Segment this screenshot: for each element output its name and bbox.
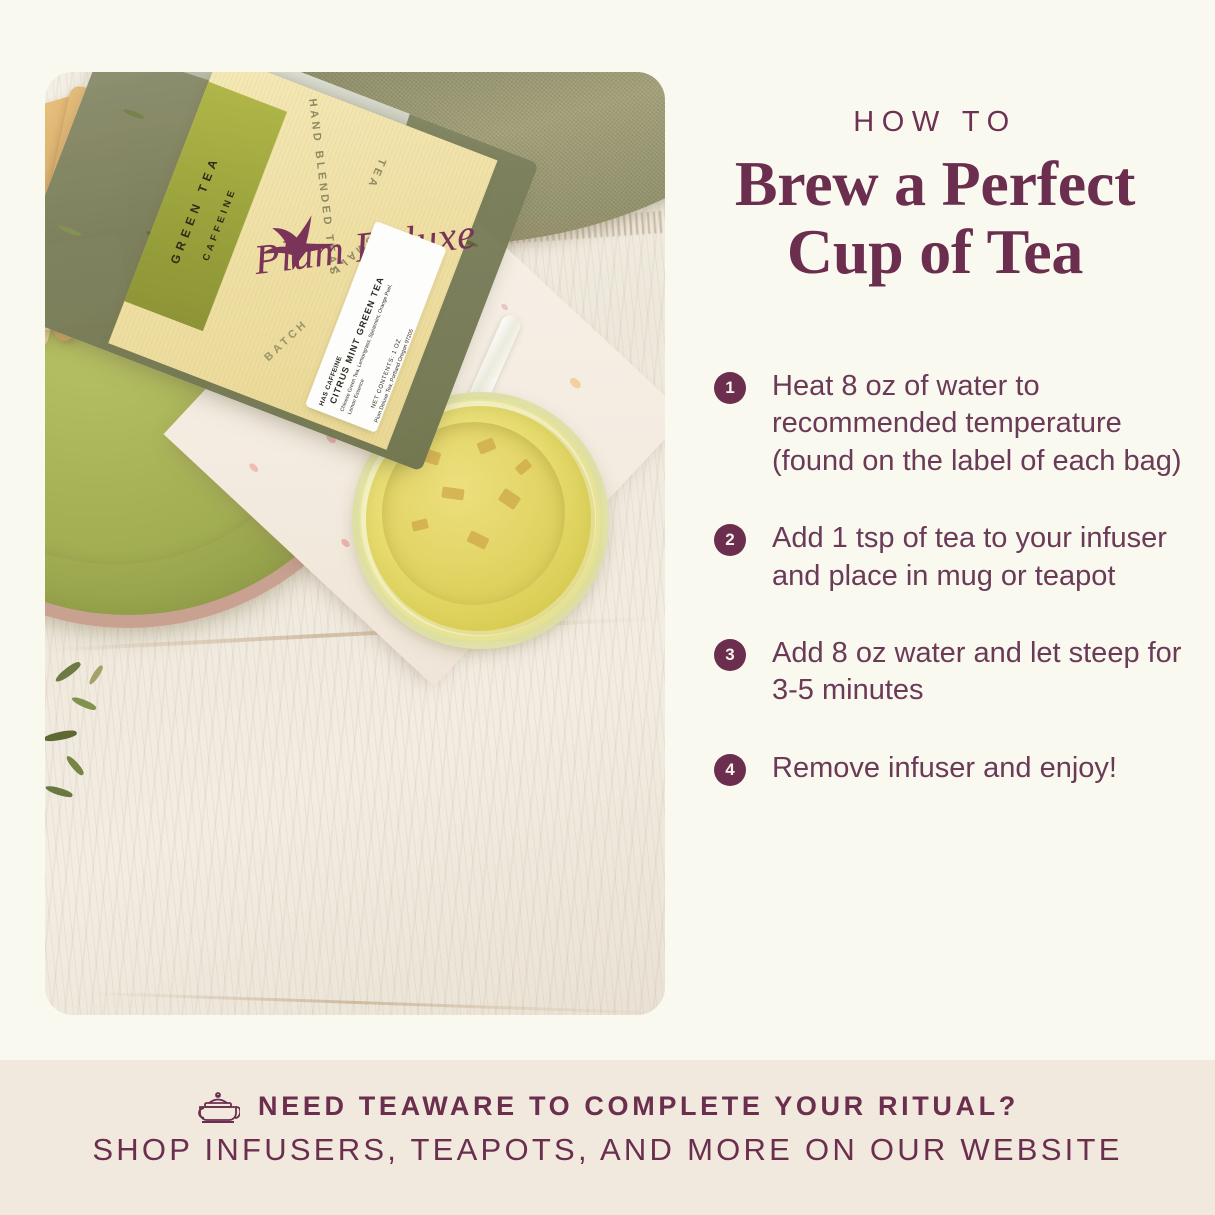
- kicker-text: HOW TO: [700, 106, 1170, 139]
- call-to-action-banner: NEED TEAWARE TO COMPLETE YOUR RITUAL? SH…: [0, 1060, 1215, 1215]
- banner-subline: SHOP INFUSERS, TEAPOTS, AND MORE ON OUR …: [0, 1132, 1215, 1168]
- page-title: Brew a Perfect Cup of Tea: [700, 150, 1170, 287]
- title-line-1: Brew a Perfect: [700, 150, 1170, 218]
- package-arc-batch: BATCH: [262, 317, 311, 363]
- floating-leaf: [411, 518, 429, 532]
- instructions-panel: HOW TO Brew a Perfect Cup of Tea 1 Heat …: [700, 0, 1200, 1060]
- step-number-badge: 2: [714, 524, 746, 556]
- list-item: 3 Add 8 oz water and let steep for 3-5 m…: [714, 635, 1184, 710]
- list-item: 2 Add 1 tsp of tea to your infuser and p…: [714, 520, 1184, 595]
- title-line-2: Cup of Tea: [700, 218, 1170, 286]
- floating-leaf: [498, 488, 522, 510]
- floating-leaf: [466, 530, 489, 550]
- teapot-icon: [196, 1084, 240, 1128]
- step-text: Add 8 oz water and let steep for 3-5 min…: [772, 635, 1184, 710]
- banner-primary-row: NEED TEAWARE TO COMPLETE YOUR RITUAL?: [0, 1084, 1215, 1128]
- hero-photo: GREEN TEA CAFFEINE HAND BLENDED TEAS TEA…: [45, 72, 665, 1015]
- banner-headline: NEED TEAWARE TO COMPLETE YOUR RITUAL?: [258, 1091, 1019, 1122]
- step-number-badge: 1: [714, 372, 746, 404]
- floating-leaf: [476, 437, 496, 454]
- step-number-badge: 4: [714, 754, 746, 786]
- package-arc-tea: TEA: [364, 157, 388, 192]
- step-text: Add 1 tsp of tea to your infuser and pla…: [772, 520, 1184, 595]
- step-text: Remove infuser and enjoy!: [772, 750, 1117, 787]
- floating-leaf: [515, 458, 533, 475]
- poster-page: GREEN TEA CAFFEINE HAND BLENDED TEAS TEA…: [0, 0, 1215, 1215]
- floating-leaf: [441, 487, 464, 501]
- list-item: 4 Remove infuser and enjoy!: [714, 750, 1184, 787]
- step-text: Heat 8 oz of water to recommended temper…: [772, 368, 1184, 480]
- steps-list: 1 Heat 8 oz of water to recommended temp…: [714, 368, 1184, 787]
- step-number-badge: 3: [714, 639, 746, 671]
- list-item: 1 Heat 8 oz of water to recommended temp…: [714, 368, 1184, 480]
